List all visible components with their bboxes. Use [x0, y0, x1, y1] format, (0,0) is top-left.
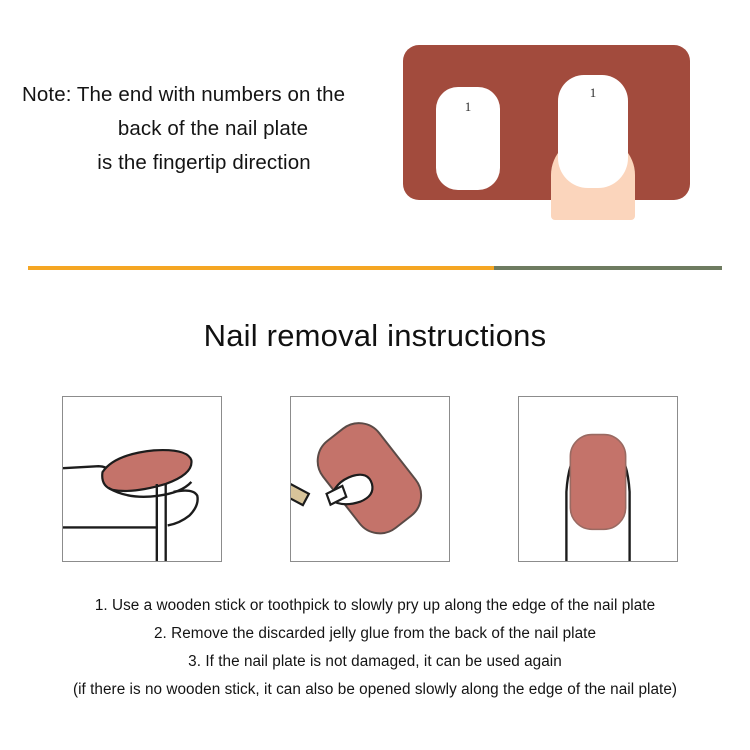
pry-up-nail-edge-icon	[63, 397, 221, 561]
note-text-block: Note: The end with numbers on the back o…	[14, 78, 390, 180]
page-title: Nail removal instructions	[0, 318, 750, 354]
divider-segment-orange	[28, 266, 494, 270]
instruction-steps: 1. Use a wooden stick or toothpick to sl…	[0, 592, 750, 704]
instruction-step-3: 3. If the nail plate is not damaged, it …	[0, 648, 750, 676]
note-section: Note: The end with numbers on the back o…	[0, 0, 750, 256]
section-divider	[28, 266, 722, 270]
nail-plate-right: 1	[558, 75, 628, 188]
note-line-1: Note: The end with numbers on the	[14, 78, 390, 112]
finger-with-nail-plate-icon	[519, 397, 677, 561]
nail-plate-left: 1	[436, 87, 500, 190]
note-line-2: back of the nail plate	[14, 112, 390, 146]
note-line-3: is the fingertip direction	[14, 146, 390, 180]
illustration-panel-2	[290, 396, 450, 562]
nail-plate-left-number: 1	[436, 99, 500, 115]
instruction-step-2: 2. Remove the discarded jelly glue from …	[0, 620, 750, 648]
illustration-panel-1	[62, 396, 222, 562]
instruction-illustrations	[0, 396, 750, 566]
instruction-step-1: 1. Use a wooden stick or toothpick to sl…	[0, 592, 750, 620]
nail-plate-holder-image: 1 1	[403, 45, 690, 220]
illustration-panel-3	[518, 396, 678, 562]
divider-segment-green	[494, 266, 722, 270]
instruction-note: (if there is no wooden stick, it can als…	[0, 676, 750, 704]
wooden-stick-under-nail-icon	[291, 397, 449, 561]
nail-plate-right-number: 1	[558, 85, 628, 101]
